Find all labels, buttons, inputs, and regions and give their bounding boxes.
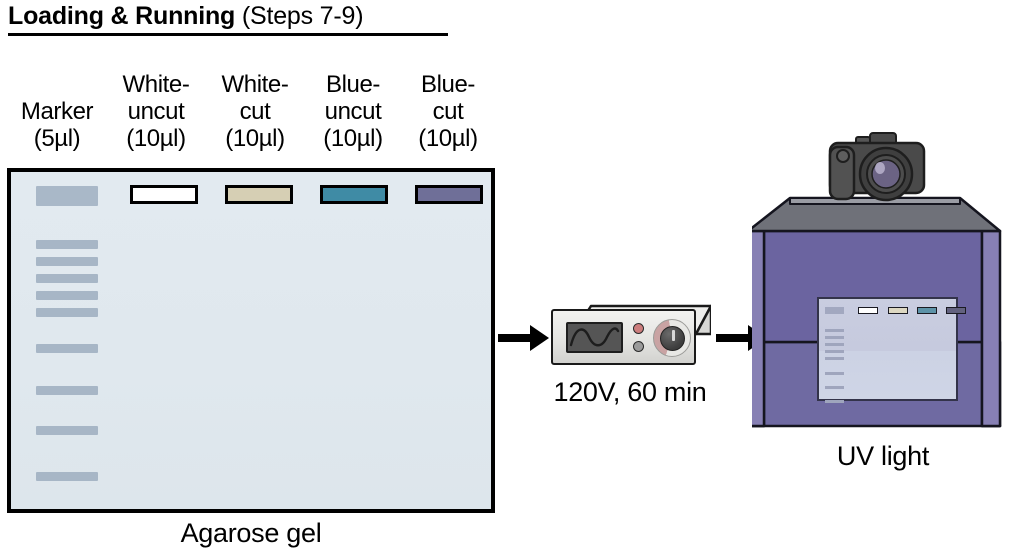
mini-marker-band xyxy=(825,386,844,389)
uv-light-box-assembly xyxy=(752,130,1024,448)
lane-header-volume: (10µl) xyxy=(205,125,305,152)
marker-band xyxy=(36,308,98,317)
well-blue-uncut xyxy=(320,185,388,204)
page-title: Loading & Running (Steps 7-9) xyxy=(8,2,448,36)
lane-header-blue-uncut: Blue- uncut (10µl) xyxy=(303,71,403,152)
agarose-gel xyxy=(7,168,495,513)
marker-band xyxy=(36,472,98,481)
arrow-shaft xyxy=(498,334,531,342)
well-white-uncut xyxy=(130,185,198,204)
knob-indicator xyxy=(672,330,675,341)
mini-marker-well-band xyxy=(825,307,844,314)
lane-header-line2: cut xyxy=(205,98,305,125)
voltage-knob[interactable] xyxy=(660,326,685,351)
lane-header-volume: (10µl) xyxy=(398,125,498,152)
mini-gel-inside-uv-box xyxy=(817,297,958,401)
lane-header-line2: cut xyxy=(398,98,498,125)
marker-band xyxy=(36,291,98,300)
lane-header-white-uncut: White- uncut (10µl) xyxy=(106,71,206,152)
mini-well-white-cut xyxy=(888,307,908,314)
lane-header-line2: uncut xyxy=(303,98,403,125)
lane-header-white-cut: White- cut (10µl) xyxy=(205,71,305,152)
marker-band xyxy=(36,274,98,283)
voltage-dial[interactable] xyxy=(653,319,691,357)
mini-marker-band xyxy=(825,400,844,403)
lane-header-line1: Blue- xyxy=(303,71,403,98)
title-steps-text: (Steps 7-9) xyxy=(242,2,363,30)
arrow-shaft xyxy=(716,334,749,342)
lane-header-line2: Marker xyxy=(7,98,107,125)
lane-header-row: Marker (5µl) White- uncut (10µl) White- … xyxy=(0,56,500,152)
lane-header-blue-cut: Blue- cut (10µl) xyxy=(398,71,498,152)
arrow-gel-to-power-supply xyxy=(498,325,549,351)
lane-header-line1: Blue- xyxy=(398,71,498,98)
power-led-red xyxy=(633,323,644,334)
mini-marker-band xyxy=(825,329,844,332)
power-supply-caption: 120V, 60 min xyxy=(505,377,755,408)
lane-header-line1: White- xyxy=(205,71,305,98)
mini-marker-band xyxy=(825,336,844,339)
lane-header-marker: Marker (5µl) xyxy=(7,98,107,152)
marker-well-band xyxy=(36,186,98,206)
lane-header-line1: White- xyxy=(106,71,206,98)
well-blue-cut xyxy=(415,185,483,204)
title-main-text: Loading & Running xyxy=(8,2,242,30)
mini-marker-band xyxy=(825,357,844,360)
marker-band xyxy=(36,426,98,435)
lane-header-volume: (10µl) xyxy=(303,125,403,152)
marker-band xyxy=(36,240,98,249)
mini-marker-band xyxy=(825,343,844,346)
marker-band xyxy=(36,257,98,266)
lane-header-volume: (10µl) xyxy=(106,125,206,152)
power-supply-front-panel xyxy=(551,309,696,365)
uv-box-caption: UV light xyxy=(752,441,1014,472)
marker-band xyxy=(36,344,98,353)
power-supply xyxy=(551,283,711,365)
mini-well-blue-uncut xyxy=(917,307,937,314)
dslr-camera-icon xyxy=(822,130,932,222)
mini-well-blue-cut xyxy=(946,307,966,314)
lane-header-volume: (5µl) xyxy=(7,125,107,152)
power-led-gray xyxy=(633,341,644,352)
arrow-head xyxy=(530,325,549,351)
well-white-cut xyxy=(225,185,293,204)
gel-caption: Agarose gel xyxy=(7,518,495,549)
marker-band xyxy=(36,386,98,395)
mini-well-white-uncut xyxy=(858,307,878,314)
mini-marker-band xyxy=(825,350,844,353)
power-supply-display xyxy=(566,322,623,353)
sine-wave-icon xyxy=(568,324,621,351)
lane-header-line2: uncut xyxy=(106,98,206,125)
mini-marker-band xyxy=(825,372,844,375)
